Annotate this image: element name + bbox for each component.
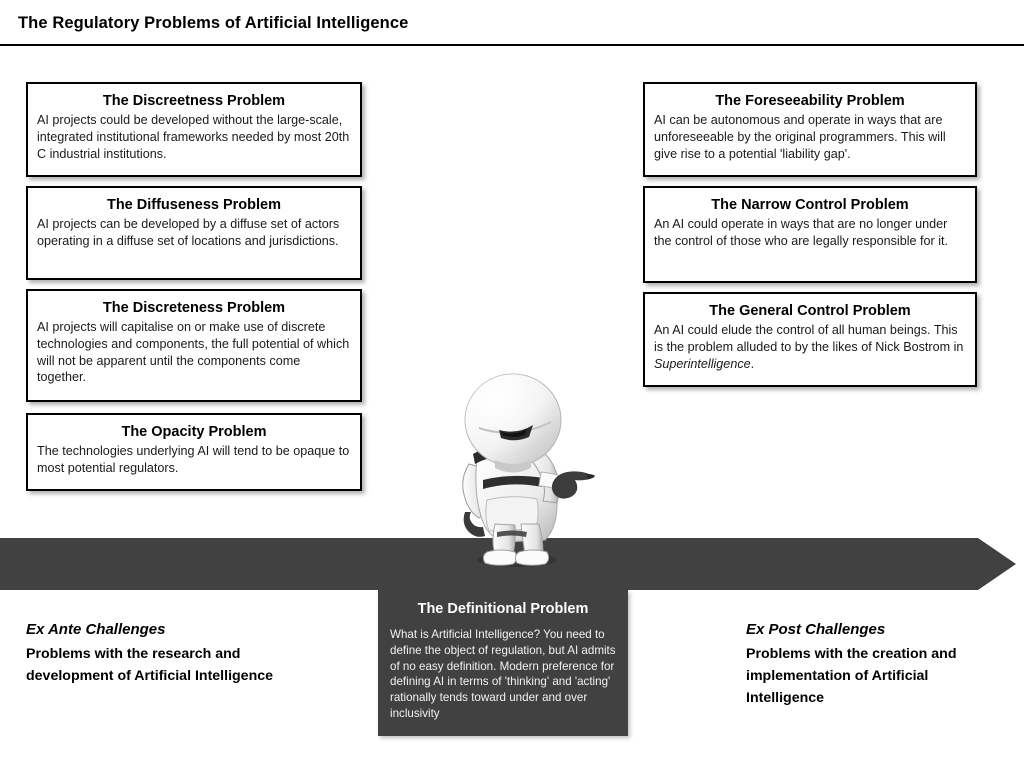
- problem-box-title: The Foreseeability Problem: [654, 92, 966, 111]
- problem-box-body: The technologies underlying AI will tend…: [37, 443, 351, 477]
- challenge-ex-post-description: Problems with the creation and implement…: [746, 643, 1008, 709]
- problem-box-title: The Discreteness Problem: [37, 299, 351, 318]
- header-divider: [0, 44, 1024, 46]
- body-text-trailing: .: [751, 357, 755, 371]
- problem-box-body: AI projects could be developed without t…: [37, 112, 351, 163]
- problem-box-general-control: The General Control Problem An AI could …: [643, 292, 977, 387]
- problem-box-foreseeability: The Foreseeability Problem AI can be aut…: [643, 82, 977, 177]
- problem-box-body: AI projects can be developed by a diffus…: [37, 216, 351, 250]
- robot-illustration: [443, 372, 603, 572]
- problem-box-title: The Opacity Problem: [37, 423, 351, 442]
- problem-box-title: The Narrow Control Problem: [654, 196, 966, 215]
- problem-box-title: The Diffuseness Problem: [37, 196, 351, 215]
- problem-box-title: The General Control Problem: [654, 302, 966, 321]
- robot-figure-icon: [443, 372, 603, 572]
- problem-box-body: An AI could operate in ways that are no …: [654, 216, 966, 250]
- problem-box-narrow-control: The Narrow Control Problem An AI could o…: [643, 186, 977, 283]
- definitional-problem-panel: The Definitional Problem What is Artific…: [378, 590, 628, 736]
- challenge-ex-ante: Ex Ante Challenges Problems with the res…: [26, 620, 288, 687]
- problem-box-discreteness: The Discreteness Problem AI projects wil…: [26, 289, 362, 402]
- problem-box-opacity: The Opacity Problem The technologies und…: [26, 413, 362, 491]
- problem-box-title: The Discreetness Problem: [37, 92, 351, 111]
- body-text-plain: An AI could elude the control of all hum…: [654, 323, 963, 354]
- challenge-ex-ante-title: Ex Ante Challenges: [26, 620, 288, 640]
- problem-box-diffuseness: The Diffuseness Problem AI projects can …: [26, 186, 362, 280]
- book-title-superintelligence: Superintelligence: [654, 357, 751, 371]
- problem-box-body: AI can be autonomous and operate in ways…: [654, 112, 966, 163]
- challenge-ex-post: Ex Post Challenges Problems with the cre…: [746, 620, 1008, 709]
- definitional-problem-title: The Definitional Problem: [390, 601, 616, 617]
- page-title: The Regulatory Problems of Artificial In…: [18, 14, 408, 33]
- problem-box-discreetness: The Discreetness Problem AI projects cou…: [26, 82, 362, 177]
- definitional-problem-body: What is Artificial Intelligence? You nee…: [390, 627, 616, 722]
- challenge-ex-ante-description: Problems with the research and developme…: [26, 643, 288, 687]
- problem-box-body: AI projects will capitalise on or make u…: [37, 319, 351, 387]
- challenge-ex-post-title: Ex Post Challenges: [746, 620, 1008, 640]
- problem-box-body: An AI could elude the control of all hum…: [654, 322, 966, 373]
